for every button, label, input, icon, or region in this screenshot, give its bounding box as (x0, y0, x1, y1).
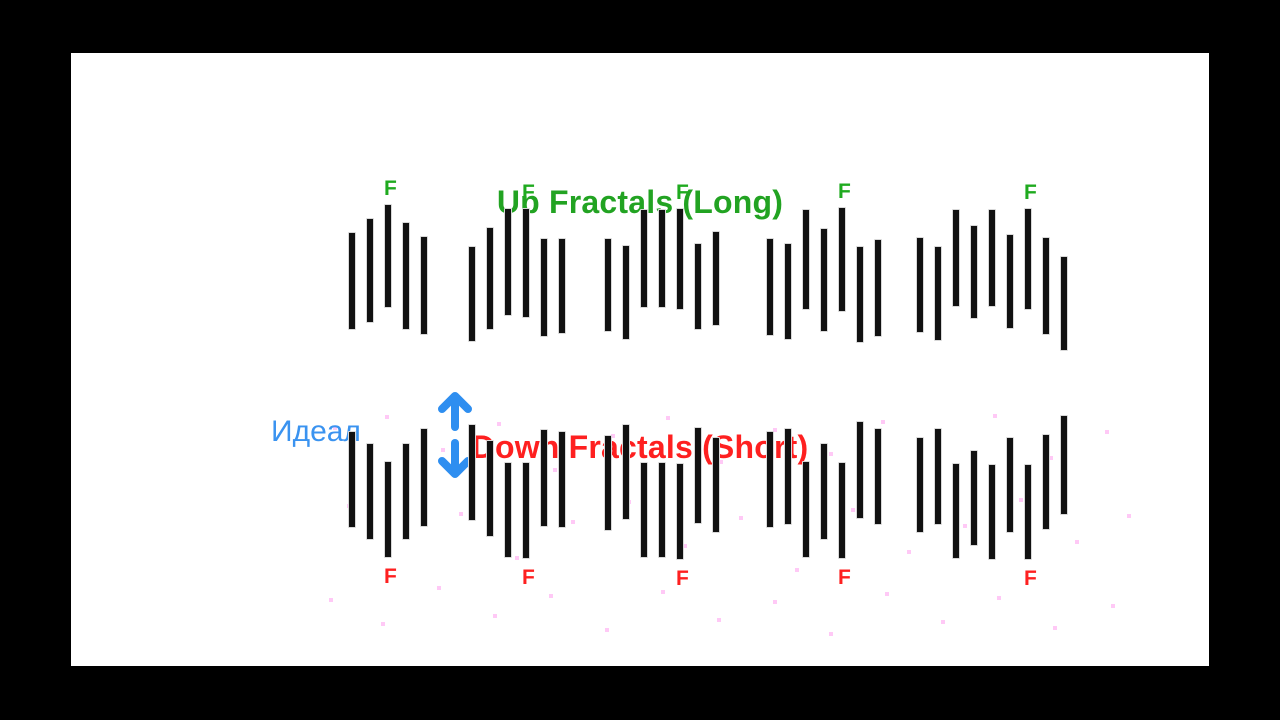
price-bar (522, 462, 530, 559)
fractal-marker-down-group-2: F (522, 567, 530, 588)
price-bar (1006, 234, 1014, 329)
diagram-panel: Up Fractals (Long) Down Fractals (Short)… (71, 53, 1209, 666)
price-bar (604, 238, 612, 332)
price-bar (558, 238, 566, 334)
price-bar (838, 207, 846, 312)
price-bar (1042, 237, 1050, 335)
fractal-marker-down-group-4: F (838, 567, 846, 588)
price-bar (540, 429, 548, 527)
price-bar (504, 208, 512, 316)
price-bar (468, 424, 476, 521)
price-bar (1024, 208, 1032, 310)
price-bar (712, 437, 720, 533)
price-bar (420, 236, 428, 335)
price-bar (384, 461, 392, 558)
price-bar (658, 209, 666, 308)
price-bar (1060, 415, 1068, 515)
price-bar (640, 209, 648, 308)
price-bar (622, 424, 630, 520)
price-bar (694, 243, 702, 330)
price-bar (420, 428, 428, 527)
price-bar (820, 228, 828, 332)
price-bar (784, 243, 792, 340)
price-bar (486, 440, 494, 537)
price-bar (856, 421, 864, 519)
price-bar (504, 462, 512, 558)
price-bar (676, 208, 684, 310)
price-bar (366, 443, 374, 540)
fractal-marker-up-group-4: F (838, 181, 846, 202)
fractal-marker-down-group-3: F (676, 568, 684, 589)
price-bar (784, 428, 792, 525)
fractal-marker-down-group-1: F (384, 566, 392, 587)
price-bar (1024, 464, 1032, 560)
price-bar (970, 450, 978, 546)
price-bar (952, 209, 960, 307)
price-bar (856, 246, 864, 343)
fractal-marker-up-group-3: F (676, 182, 684, 203)
price-bar (348, 431, 356, 528)
fractal-marker-up-group-2: F (522, 182, 530, 203)
down-fractals-title: Down Fractals (Short) (71, 429, 1209, 466)
price-bar (838, 462, 846, 559)
price-bar (522, 208, 530, 318)
price-bar (1060, 256, 1068, 351)
price-bar (402, 222, 410, 330)
price-bar (604, 435, 612, 531)
price-bar (970, 225, 978, 319)
price-bar (676, 463, 684, 560)
fractal-marker-up-group-5: F (1024, 182, 1032, 203)
price-bar (558, 431, 566, 528)
price-bar (988, 464, 996, 560)
price-bar (468, 246, 476, 342)
price-bar (820, 443, 828, 540)
price-bar (486, 227, 494, 330)
price-bar (348, 232, 356, 330)
price-bar (802, 461, 810, 558)
fractal-marker-up-group-1: F (384, 178, 392, 199)
price-bar (540, 238, 548, 337)
price-bar (766, 431, 774, 528)
price-bar (874, 239, 882, 337)
price-bar (988, 209, 996, 307)
price-bar (766, 238, 774, 336)
price-bar (694, 427, 702, 524)
price-bar (384, 204, 392, 308)
price-bar (1042, 434, 1050, 530)
price-bar (366, 218, 374, 323)
price-bar (802, 209, 810, 310)
price-bar (916, 237, 924, 333)
screenshot-root: Up Fractals (Long) Down Fractals (Short)… (0, 0, 1280, 720)
fractal-marker-down-group-5: F (1024, 568, 1032, 589)
price-bar (402, 443, 410, 540)
price-bar (952, 463, 960, 559)
price-bar (622, 245, 630, 340)
price-bar (1006, 437, 1014, 533)
price-bar (934, 246, 942, 341)
price-bar (874, 428, 882, 525)
price-bar (640, 462, 648, 558)
price-bar (916, 437, 924, 533)
price-bar (658, 462, 666, 558)
price-bar (712, 231, 720, 326)
price-bar (934, 428, 942, 525)
